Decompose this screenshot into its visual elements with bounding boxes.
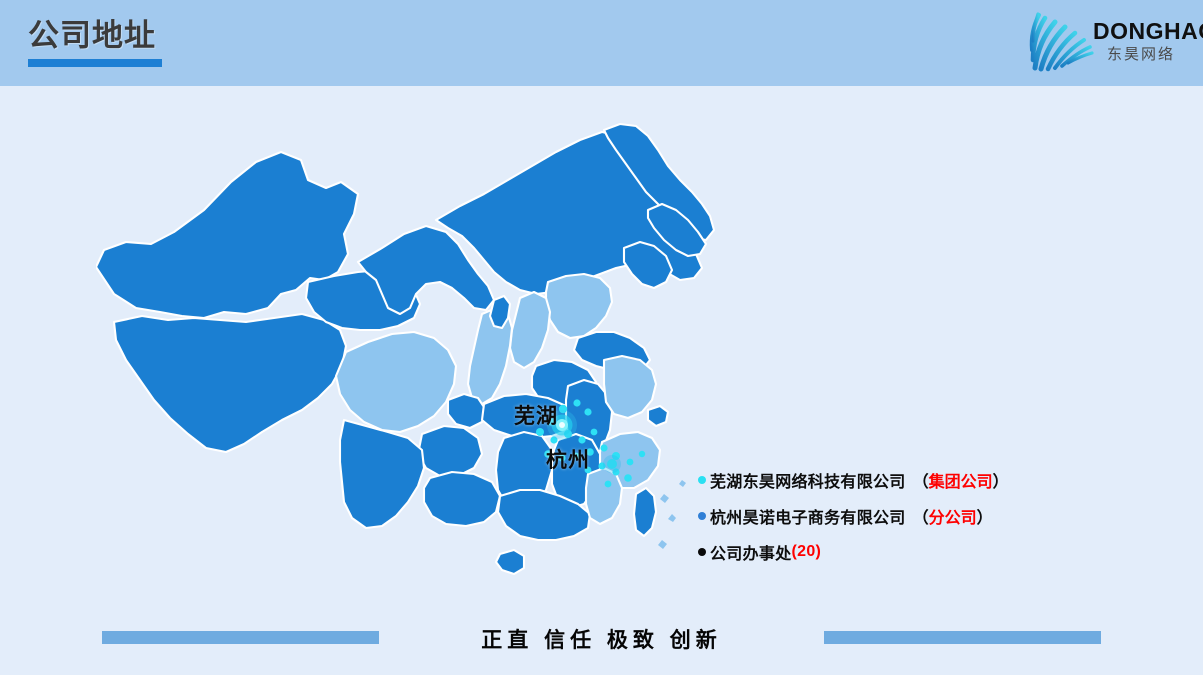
footer-bar-right bbox=[824, 631, 1101, 644]
legend-dot-group bbox=[698, 476, 706, 484]
title-underline bbox=[28, 59, 162, 67]
page-title: 公司地址 bbox=[28, 16, 162, 67]
legend-count-offices: (20) bbox=[792, 543, 822, 561]
province-taiwan bbox=[634, 488, 656, 536]
province-shanghai bbox=[648, 406, 668, 426]
province-sichuan bbox=[336, 332, 456, 432]
legend-dot-branch bbox=[698, 512, 706, 520]
page-title-text: 公司地址 bbox=[28, 16, 162, 56]
legend-label-branch: 杭州昊诺电子商务有限公司 bbox=[710, 504, 906, 528]
legend-label-group: 芜湖东昊网络科技有限公司 bbox=[710, 468, 906, 492]
province-hainan bbox=[496, 550, 524, 574]
map-label-wuhu: 芜湖 bbox=[514, 400, 558, 430]
map-legend: 芜湖东昊网络科技有限公司 （集团公司） 杭州昊诺电子商务有限公司 （分公司） 公… bbox=[698, 462, 1028, 570]
china-map bbox=[96, 122, 716, 622]
legend-tag-text-group: 集团公司 bbox=[929, 474, 993, 491]
logo-subtitle: 东昊网络 bbox=[1107, 46, 1175, 63]
paren-close: ） bbox=[977, 510, 993, 527]
legend-tag-branch: （分公司） bbox=[913, 504, 993, 528]
marker-hangzhou bbox=[603, 455, 621, 473]
legend-label-offices: 公司办事处 bbox=[710, 540, 792, 564]
feather-fan-icon bbox=[1021, 8, 1095, 74]
map-label-hangzhou: 杭州 bbox=[546, 444, 590, 474]
legend-item-branch-company: 杭州昊诺电子商务有限公司 （分公司） bbox=[698, 498, 1028, 534]
legend-tag-group: （集团公司） bbox=[913, 468, 1009, 492]
paren-open: （ bbox=[913, 510, 929, 527]
province-hebei bbox=[546, 274, 612, 338]
province-yunnan bbox=[340, 420, 424, 528]
legend-item-offices: 公司办事处(20) bbox=[698, 534, 1028, 570]
islands bbox=[658, 480, 686, 549]
province-tibet bbox=[114, 314, 346, 452]
province-guangxi bbox=[424, 472, 500, 526]
province-guizhou bbox=[418, 426, 482, 476]
province-shanxi bbox=[510, 292, 550, 368]
legend-tag-text-branch: 分公司 bbox=[929, 510, 977, 527]
province-fujian bbox=[586, 468, 622, 524]
paren-close: ） bbox=[993, 474, 1009, 491]
paren-open: （ bbox=[913, 474, 929, 491]
legend-item-group-company: 芜湖东昊网络科技有限公司 （集团公司） bbox=[698, 462, 1028, 498]
province-jiangsu bbox=[604, 356, 656, 418]
logo-name: DONGHAO bbox=[1093, 19, 1203, 44]
company-logo: DONGHAO 东昊网络 bbox=[1021, 6, 1187, 76]
page-header: 公司地址 bbox=[0, 0, 1203, 86]
legend-dot-offices bbox=[698, 548, 706, 556]
